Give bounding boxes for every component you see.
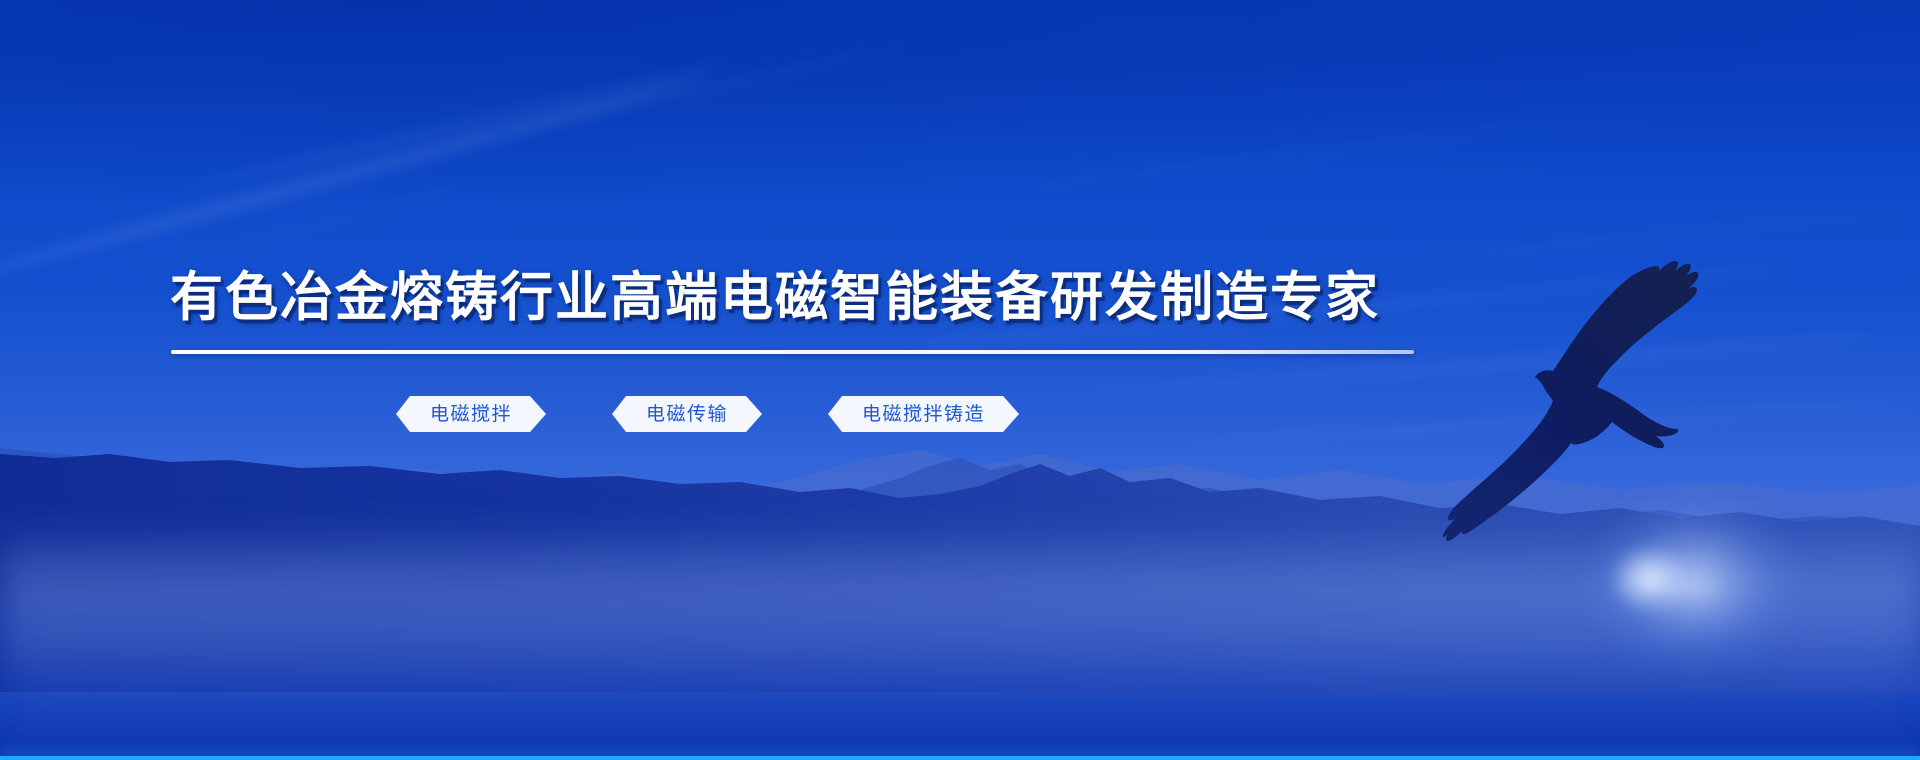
tag-list: 电磁搅拌 电磁传输 电磁搅拌铸造	[396, 396, 1019, 432]
tag-label: 电磁搅拌铸造	[862, 405, 985, 424]
tag-label: 电磁搅拌	[430, 405, 512, 424]
tag-electromagnetic-stirring[interactable]: 电磁搅拌	[396, 396, 546, 432]
tag-label: 电磁传输	[646, 405, 728, 424]
hero-banner: 有色冶金熔铸行业高端电磁智能装备研发制造专家 电磁搅拌 电磁传输 电磁搅拌铸造	[0, 0, 1920, 760]
tag-electromagnetic-transmission[interactable]: 电磁传输	[612, 396, 762, 432]
headline-divider	[171, 350, 1414, 354]
banner-headline: 有色冶金熔铸行业高端电磁智能装备研发制造专家	[170, 268, 1420, 327]
tag-electromagnetic-stirring-casting[interactable]: 电磁搅拌铸造	[828, 396, 1019, 432]
banner-content: 有色冶金熔铸行业高端电磁智能装备研发制造专家 电磁搅拌 电磁传输 电磁搅拌铸造	[0, 0, 1920, 760]
